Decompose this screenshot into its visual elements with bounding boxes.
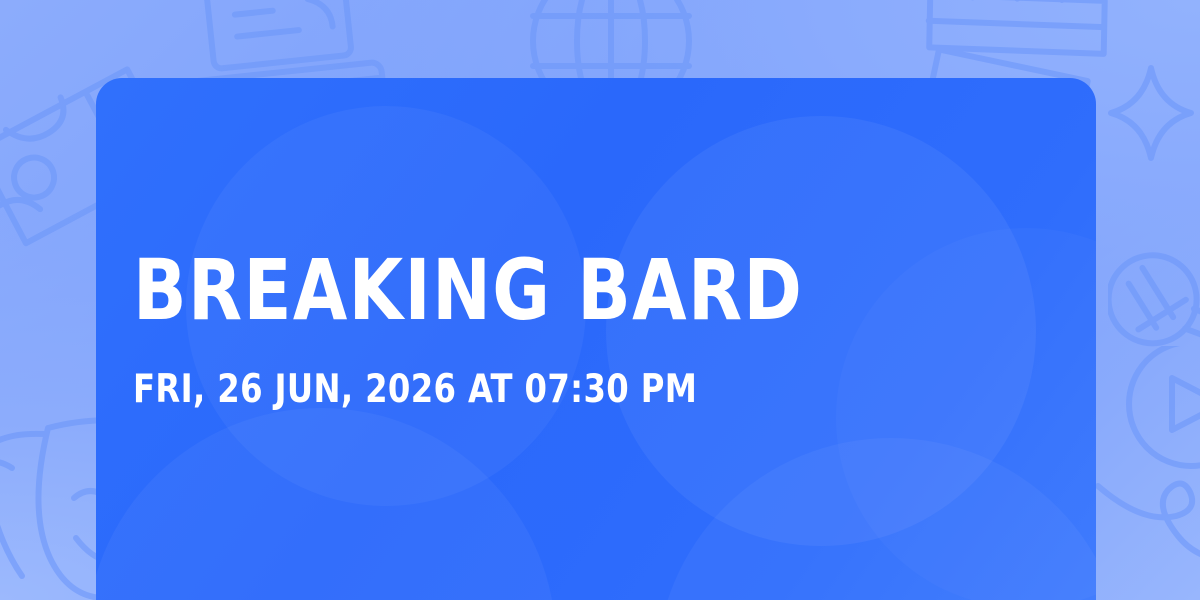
event-card: Breaking Bard Fri, 26 Jun, 2026 at 07:30… (96, 78, 1096, 600)
sparkle-icon (1096, 58, 1200, 168)
play-circle-icon (1106, 346, 1200, 516)
event-card-content: Breaking Bard Fri, 26 Jun, 2026 at 07:30… (133, 78, 854, 600)
event-datetime: Fri, 26 Jun, 2026 at 07:30 PM (133, 370, 796, 409)
poster-canvas: Breaking Bard Fri, 26 Jun, 2026 at 07:30… (0, 0, 1200, 600)
decorative-circle-right-wash (836, 228, 1096, 600)
squiggle-line-icon (1096, 470, 1200, 600)
microphone-icon (1108, 222, 1200, 422)
event-title: Breaking Bard (133, 248, 803, 332)
